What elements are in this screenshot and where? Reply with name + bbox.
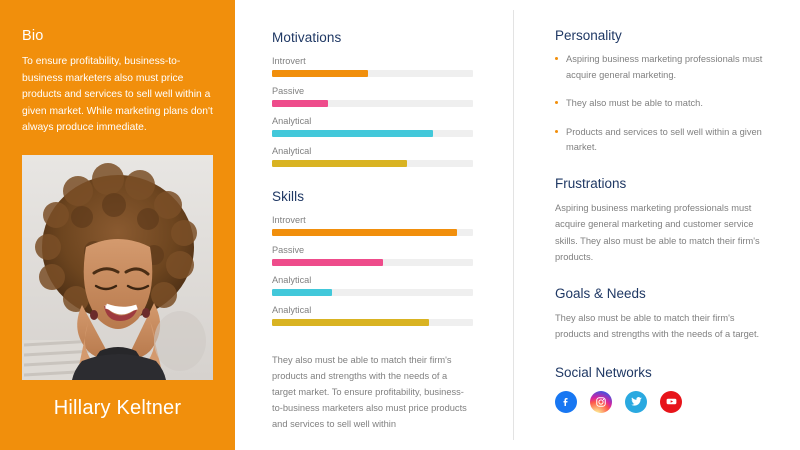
bio-text: To ensure profitability, business-to-bus… — [22, 54, 213, 137]
bar-track — [272, 130, 473, 137]
bar-fill — [272, 319, 429, 326]
social-networks-section: Social Networks — [555, 365, 770, 413]
list-item: They also must be able to match. — [555, 96, 770, 112]
motivations-title: Motivations — [272, 30, 473, 45]
social-networks-title: Social Networks — [555, 365, 770, 380]
personality-section: Personality Aspiring business marketing … — [555, 28, 770, 156]
motivation-bar-row: Analytical — [272, 116, 473, 137]
frustrations-section: Frustrations Aspiring business marketing… — [555, 176, 770, 266]
bar-label: Introvert — [272, 215, 473, 225]
frustrations-title: Frustrations — [555, 176, 770, 191]
bar-label: Analytical — [272, 275, 473, 285]
motivation-bar-row: Introvert — [272, 56, 473, 77]
bar-fill — [272, 289, 332, 296]
bar-fill — [272, 100, 328, 107]
metrics-column: Motivations Introvert Passive Analytical — [235, 0, 513, 450]
instagram-icon[interactable] — [590, 391, 612, 413]
bar-label: Analytical — [272, 116, 473, 126]
instagram-glyph — [595, 396, 607, 408]
skills-title: Skills — [272, 189, 473, 204]
bar-label: Passive — [272, 86, 473, 96]
youtube-icon[interactable] — [660, 391, 682, 413]
skill-bar-row: Analytical — [272, 275, 473, 296]
facebook-icon[interactable] — [555, 391, 577, 413]
skill-bar-row: Passive — [272, 245, 473, 266]
social-icon-row — [555, 391, 770, 413]
bio-panel: Bio To ensure profitability, business-to… — [0, 0, 235, 450]
personality-title: Personality — [555, 28, 770, 43]
list-item: Aspiring business marketing professional… — [555, 52, 770, 83]
twitter-glyph — [630, 395, 643, 408]
persona-document: Bio To ensure profitability, business-to… — [0, 0, 800, 450]
skills-section: Skills Introvert Passive Analytical — [272, 189, 473, 326]
bar-track — [272, 100, 473, 107]
bar-label: Analytical — [272, 305, 473, 315]
youtube-glyph — [665, 395, 678, 408]
goals-text: They also must be able to match their fi… — [555, 310, 770, 343]
persona-name: Hillary Keltner — [22, 397, 213, 420]
bar-track — [272, 229, 473, 236]
bar-label: Introvert — [272, 56, 473, 66]
skill-bar-row: Introvert — [272, 215, 473, 236]
bar-track — [272, 160, 473, 167]
goals-section: Goals & Needs They also must be able to … — [555, 286, 770, 343]
twitter-icon[interactable] — [625, 391, 647, 413]
bar-label: Passive — [272, 245, 473, 255]
bar-fill — [272, 259, 383, 266]
motivation-bar-row: Analytical — [272, 146, 473, 167]
profile-column: Personality Aspiring business marketing … — [513, 0, 800, 450]
facebook-glyph — [560, 396, 572, 408]
skill-bar-row: Analytical — [272, 305, 473, 326]
bar-fill — [272, 160, 407, 167]
motivation-bar-row: Passive — [272, 86, 473, 107]
bio-title: Bio — [22, 28, 213, 44]
avatar — [22, 155, 213, 380]
column-divider — [513, 10, 514, 440]
middle-paragraph: They also must be able to match their fi… — [272, 352, 473, 432]
bar-fill — [272, 70, 368, 77]
bar-fill — [272, 130, 433, 137]
list-item: Products and services to sell well withi… — [555, 125, 770, 156]
goals-title: Goals & Needs — [555, 286, 770, 301]
bar-fill — [272, 229, 457, 236]
motivations-section: Motivations Introvert Passive Analytical — [272, 30, 473, 167]
bar-track — [272, 70, 473, 77]
frustrations-text: Aspiring business marketing professional… — [555, 200, 770, 266]
bar-track — [272, 259, 473, 266]
bar-track — [272, 319, 473, 326]
persona-photo-illustration — [22, 155, 213, 380]
personality-list: Aspiring business marketing professional… — [555, 52, 770, 156]
bar-track — [272, 289, 473, 296]
bar-label: Analytical — [272, 146, 473, 156]
